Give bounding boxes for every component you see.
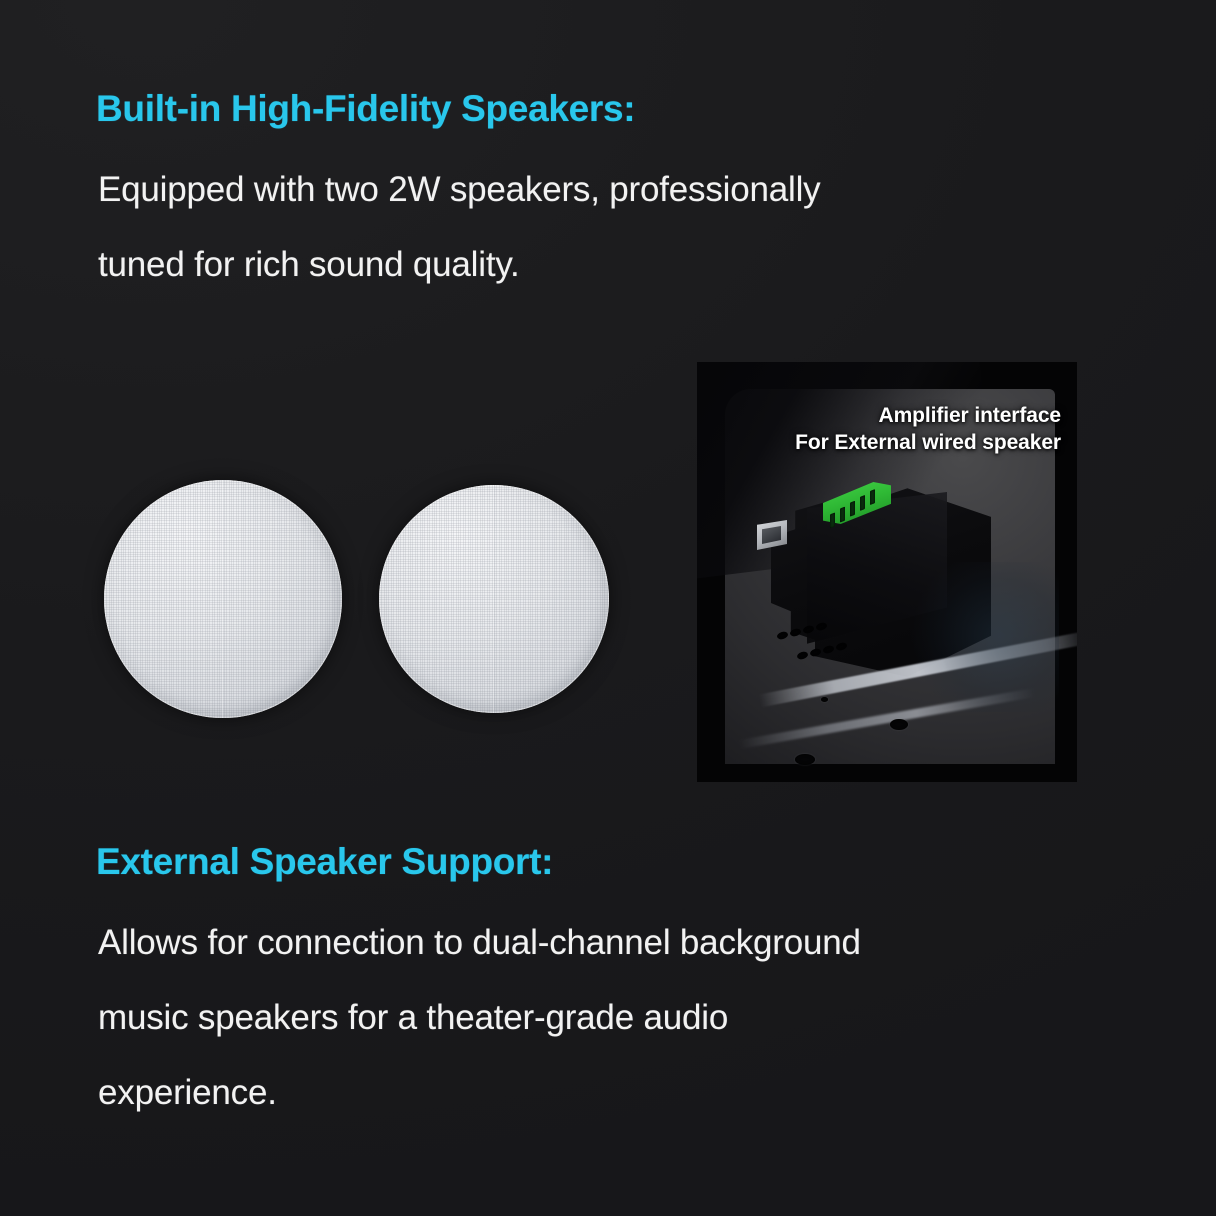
screw-hole	[821, 697, 828, 702]
panel-light-sheen	[909, 562, 1059, 712]
body-line: tuned for rich sound quality.	[98, 227, 1088, 302]
body-line: Allows for connection to dual-channel ba…	[98, 905, 1128, 980]
terminal-hole	[830, 512, 835, 528]
vent-slot	[822, 645, 835, 655]
photo-caption-line: Amplifier interface	[795, 402, 1061, 429]
product-feature-infographic: Built-in High-Fidelity Speakers: Equippe…	[0, 0, 1216, 1216]
vent-slot	[809, 648, 822, 658]
section-heading-built-in-speakers: Built-in High-Fidelity Speakers:	[96, 88, 635, 130]
photo-caption-overlay: Amplifier interface For External wired s…	[795, 402, 1061, 456]
vent-slot-group	[777, 618, 887, 664]
amplifier-interface-photo: Amplifier interface For External wired s…	[697, 362, 1077, 782]
vent-slot	[776, 631, 789, 641]
terminal-hole	[840, 507, 845, 523]
terminal-hole	[850, 501, 855, 517]
section-body-built-in-speakers: Equipped with two 2W speakers, professio…	[98, 152, 1088, 302]
terminal-hole	[860, 495, 865, 511]
speaker-grille-left-image	[104, 480, 342, 718]
speaker-grille-right-image	[379, 485, 609, 713]
vent-slot	[789, 628, 802, 638]
vent-slot	[796, 651, 809, 661]
screw-hole	[795, 754, 815, 765]
vent-slot	[815, 622, 828, 632]
body-line: experience.	[98, 1055, 1128, 1130]
body-line: music speakers for a theater-grade audio	[98, 980, 1128, 1055]
body-line: Equipped with two 2W speakers, professio…	[98, 152, 1088, 227]
section-heading-external-speaker-support: External Speaker Support:	[96, 841, 553, 883]
section-body-external-speaker-support: Allows for connection to dual-channel ba…	[98, 905, 1128, 1130]
vent-slot	[835, 642, 848, 652]
screw-hole	[890, 719, 908, 730]
photo-caption-line: For External wired speaker	[795, 429, 1061, 456]
terminal-hole	[870, 489, 875, 505]
vent-slot	[802, 625, 815, 635]
